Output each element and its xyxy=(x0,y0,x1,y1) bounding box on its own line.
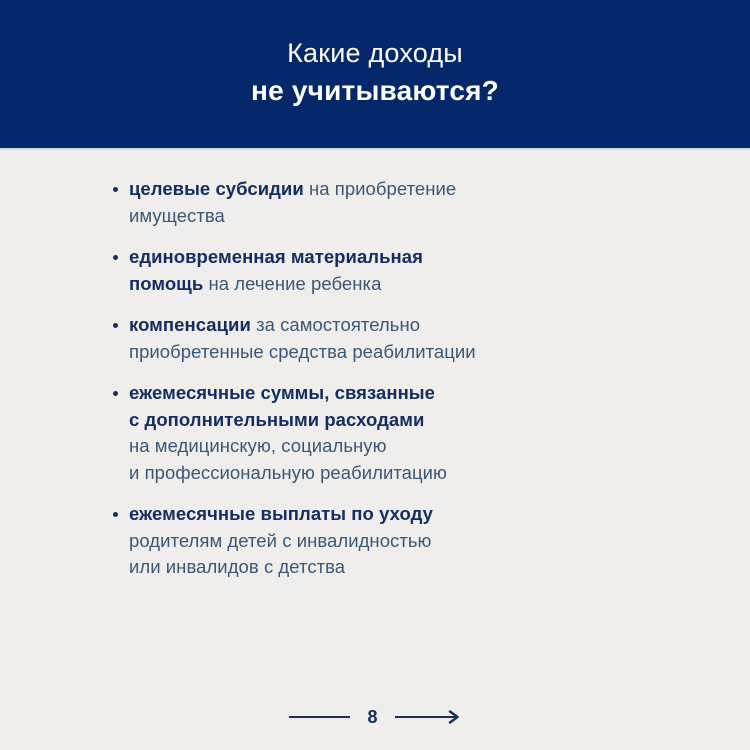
title-line-1: Какие доходы xyxy=(0,36,750,70)
excluded-income-list: целевые субсидии на приобретение имущест… xyxy=(112,176,672,581)
list-item-regular: на лечение ребенка xyxy=(203,273,381,294)
bullet-dot-icon xyxy=(113,512,118,517)
list-item-continuation: родителям детей с инвалидностью xyxy=(129,530,431,551)
bullet-dot-icon xyxy=(113,187,118,192)
list-item: компенсации за самостоятельно приобретен… xyxy=(112,312,672,365)
list-item-continuation: и профессиональную реабилитацию xyxy=(129,462,447,483)
list-item-continuation: имущества xyxy=(129,205,225,226)
header-separator xyxy=(0,148,750,150)
list-item: целевые субсидии на приобретение имущест… xyxy=(112,176,672,229)
list-item-text: ежемесячные суммы, связанные с дополните… xyxy=(129,380,672,486)
list-item: ежемесячные суммы, связанные с дополните… xyxy=(112,380,672,486)
title-line-2: не учитываются? xyxy=(0,73,750,109)
list-item-bold: компенсации xyxy=(129,314,251,335)
list-item-text: целевые субсидии на приобретение имущест… xyxy=(129,176,672,229)
list-item-continuation: на медицинскую, социальную xyxy=(129,435,387,456)
bullet-dot-icon xyxy=(113,255,118,260)
page-number: 8 xyxy=(367,706,377,728)
list-item-bold: ежемесячные выплаты по уходу xyxy=(129,503,433,524)
footer-pager: 8 xyxy=(0,706,750,728)
list-item-bold: целевые субсидии xyxy=(129,178,304,199)
list-item-regular: на приобретение xyxy=(304,178,456,199)
list-item-continuation: или инвалидов с детства xyxy=(129,556,345,577)
bullet-dot-icon xyxy=(113,323,118,328)
list-item-bold: ежемесячные суммы, связанные xyxy=(129,382,435,403)
list-item-text: ежемесячные выплаты по уходу родителям д… xyxy=(129,501,672,581)
list-item-text: единовременная материальная помощь на ле… xyxy=(129,244,672,297)
page-title: Какие доходы не учитываются? xyxy=(0,36,750,109)
list-item-bold-line-2: с дополнительными расходами xyxy=(129,409,424,430)
pager-rule-left xyxy=(289,716,350,718)
list-item: единовременная материальная помощь на ле… xyxy=(112,244,672,297)
list-item-bold-line-2: помощь xyxy=(129,273,203,294)
list-item-bold: единовременная материальная xyxy=(129,246,423,267)
bullet-dot-icon xyxy=(113,391,118,396)
list-item-regular: за самостоятельно xyxy=(251,314,420,335)
list-item-text: компенсации за самостоятельно приобретен… xyxy=(129,312,672,365)
arrow-right-icon[interactable] xyxy=(395,710,461,724)
list-item: ежемесячные выплаты по уходу родителям д… xyxy=(112,501,672,581)
list-item-continuation: приобретенные средства реабилитации xyxy=(129,341,476,362)
